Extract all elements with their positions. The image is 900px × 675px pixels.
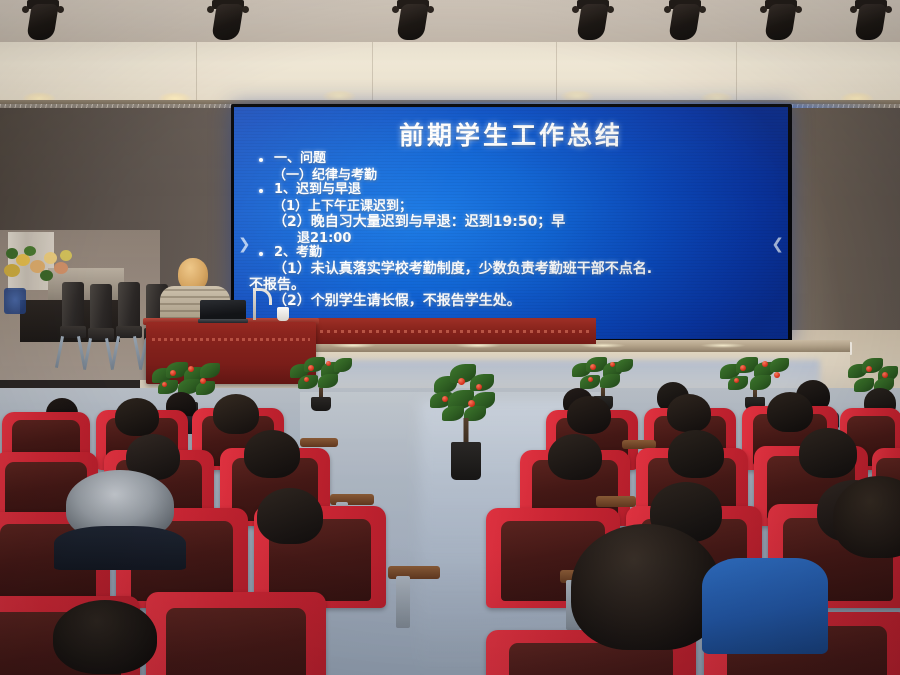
auditorium-scene: 前期学生工作总结 一、问题（一）纪律与考勤1、迟到与早退（1）上下午正课迟到；（… [0, 0, 900, 675]
ceiling-spotlight-icon [570, 0, 616, 44]
wall-seam [196, 42, 197, 108]
ceiling-spotlight-icon [758, 0, 804, 44]
slide-line: 不报告。 [249, 276, 773, 292]
slide-line: （一）纪律与考勤 [249, 166, 773, 182]
audience-member [236, 430, 308, 482]
stage-chair[interactable] [118, 282, 144, 354]
ceiling-spotlight-icon [662, 0, 708, 44]
slide-line: 1、迟到与早退 [249, 182, 773, 197]
slide-next-arrow-icon[interactable]: ❮ [771, 235, 784, 253]
audience-member [660, 430, 732, 482]
slide-prev-arrow-icon[interactable]: ❯ [238, 235, 251, 253]
right-wall-panel [788, 108, 900, 353]
audience-member [248, 488, 332, 550]
flower-arrangement [0, 246, 78, 286]
wall-seam [556, 42, 557, 108]
ledge-glint [700, 343, 746, 348]
bullet-icon [259, 158, 263, 162]
audience-member [700, 548, 830, 658]
upper-wall [0, 42, 900, 78]
potted-plant [288, 356, 354, 412]
wall-seam [736, 42, 737, 108]
laptop[interactable] [198, 300, 248, 322]
slide-line: （1）上下午正课迟到； [249, 197, 773, 213]
slide-line-text: 一、问题 [274, 151, 326, 166]
seat-leg [396, 576, 410, 628]
audience-member [40, 600, 170, 675]
ceiling-spotlight-icon [848, 0, 894, 44]
potted-plant [428, 362, 504, 484]
wall-seam [372, 42, 373, 108]
audience-member [560, 396, 618, 438]
slide-line: （2）个别学生请长假，不报告学生处。 [249, 292, 773, 308]
stage-emblem [4, 288, 26, 314]
slide-line: （1）未认真落实学校考勤制度，少数负责考勤班干部不点名. [249, 260, 773, 276]
audience-member [790, 428, 866, 482]
ceiling-spotlight-icon [205, 0, 251, 44]
slide-title: 前期学生工作总结 [234, 116, 788, 152]
slide-line-text: 2、考勤 [274, 245, 322, 260]
bullet-icon [259, 252, 263, 256]
stage-chair[interactable] [90, 284, 116, 356]
slide-line: （2）晚自习大量迟到与早退：迟到19:50；早 [249, 213, 773, 229]
led-screen[interactable]: 前期学生工作总结 一、问题（一）纪律与考勤1、迟到与早退（1）上下午正课迟到；（… [234, 107, 788, 339]
auditorium-seat[interactable] [146, 592, 326, 675]
ceiling-spotlight-icon [390, 0, 436, 44]
microphone[interactable] [243, 288, 269, 322]
bullet-icon [259, 189, 263, 193]
audience-member [824, 476, 900, 572]
stage-rail-trim [320, 330, 592, 333]
slide-body: 一、问题（一）纪律与考勤1、迟到与早退（1）上下午正课迟到；（2）晚自习大量迟到… [249, 151, 773, 308]
slide-line-text: （2）个别学生请长假，不报告学生处。 [249, 292, 521, 310]
podium-trim [152, 338, 310, 341]
slide-line-text: （1）未认真落实学校考勤制度，少数负责考勤班干部不点名. [249, 260, 652, 278]
slide-line: 退21:00 [249, 229, 773, 245]
ceiling-spotlight-icon [20, 0, 66, 44]
slide-line: 2、考勤 [249, 245, 773, 260]
slide-line-text: 1、迟到与早退 [274, 182, 361, 197]
audience-member-fur-hood [60, 470, 180, 556]
stage-chair[interactable] [62, 282, 88, 354]
slide-line: 一、问题 [249, 151, 773, 166]
paper-cup [277, 307, 289, 321]
audience-member [540, 434, 610, 484]
